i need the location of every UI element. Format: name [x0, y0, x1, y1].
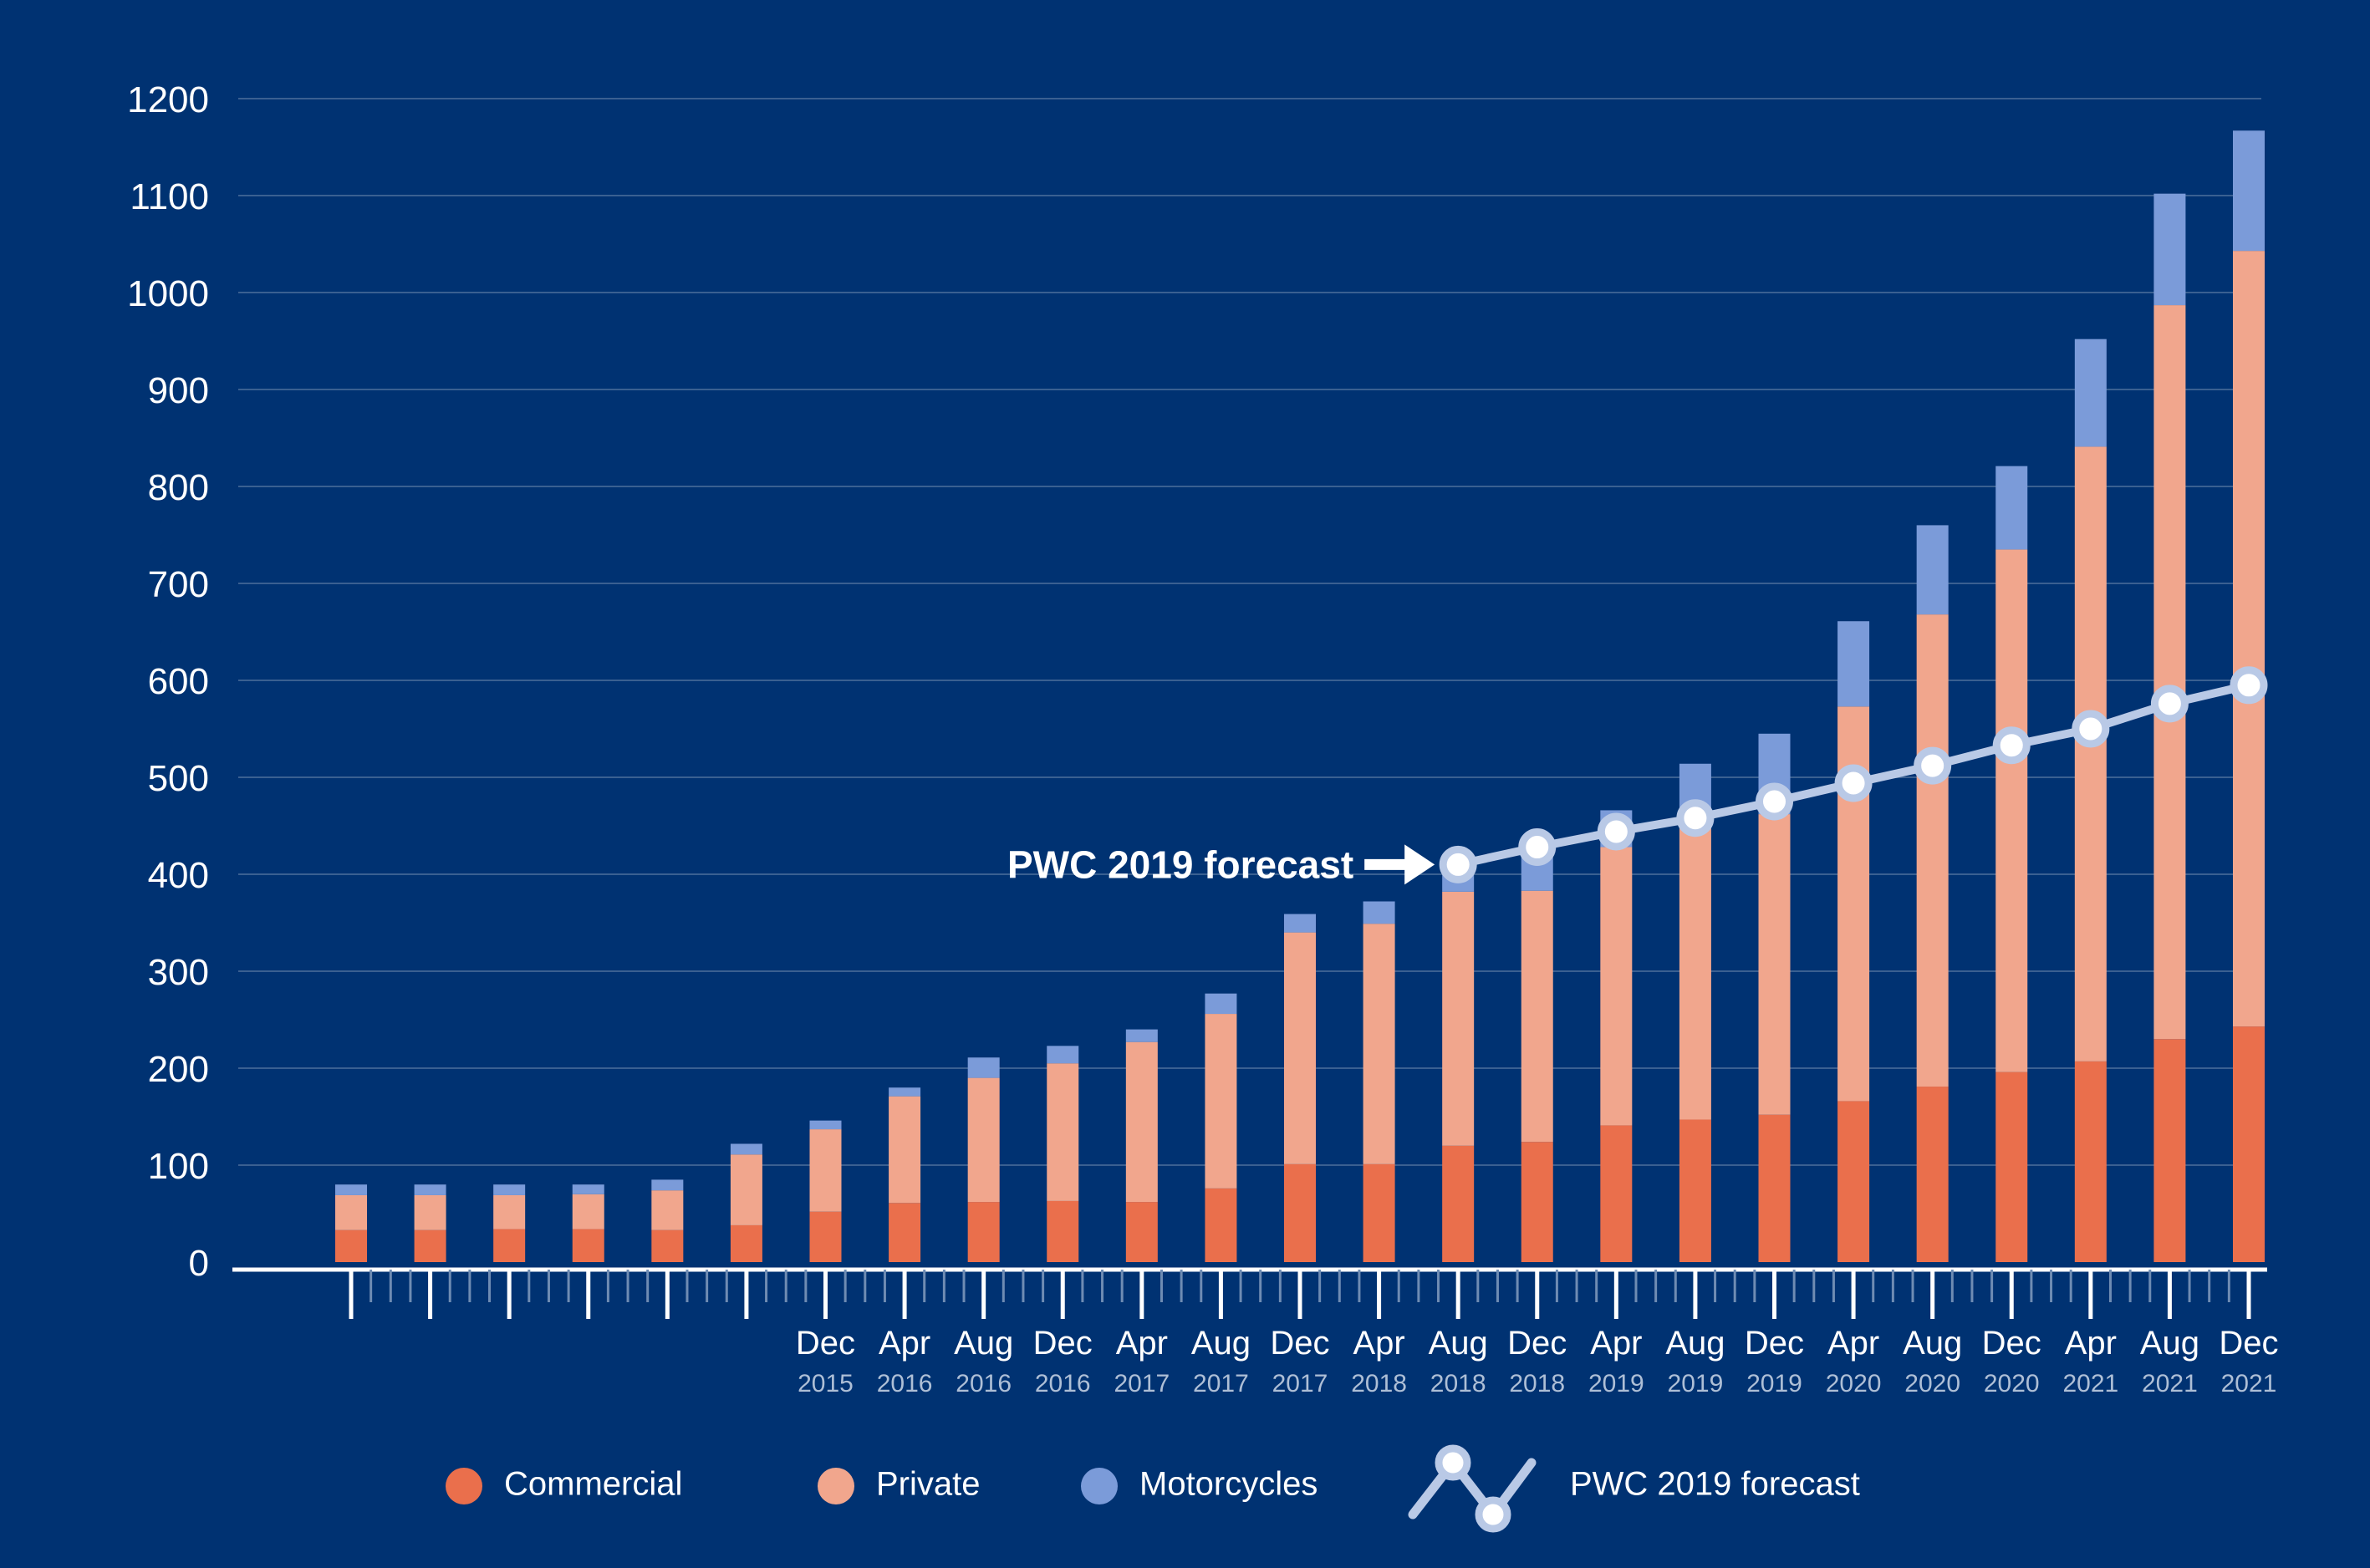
bar-stack — [651, 1179, 683, 1262]
x-axis-month-label: Apr — [1116, 1325, 1168, 1362]
forecast-point-marker — [1760, 787, 1790, 817]
forecast-point-marker — [2154, 689, 2184, 719]
x-axis-year-label: 2021 — [2221, 1370, 2277, 1397]
bar-stack — [810, 1121, 842, 1262]
x-axis-month-label: Aug — [2140, 1325, 2199, 1362]
bar-segment-commercial — [335, 1230, 367, 1262]
bar-segment-motorcycles — [2153, 194, 2185, 305]
x-axis-month-label: Dec — [1507, 1325, 1567, 1362]
bar-segment-private — [1995, 549, 2027, 1072]
x-axis-month-label: Aug — [1903, 1325, 1962, 1362]
bar-segment-motorcycles — [2075, 339, 2107, 447]
bar-segment-private — [1759, 814, 1791, 1115]
x-axis-year-label: 2018 — [1430, 1370, 1486, 1397]
bar-segment-commercial — [1917, 1087, 1949, 1262]
x-axis-month-label: Aug — [1191, 1325, 1251, 1362]
bar-segment-commercial — [731, 1225, 762, 1262]
bar-segment-commercial — [968, 1202, 1000, 1262]
bar-segment-commercial — [889, 1203, 920, 1262]
bar-segment-private — [1205, 1014, 1236, 1189]
x-axis-month-label: Dec — [2219, 1325, 2278, 1362]
x-axis-month-label: Dec — [1982, 1325, 2041, 1362]
bar-segment-private — [731, 1154, 762, 1225]
y-axis-tick-label: 1100 — [130, 176, 209, 217]
bar-segment-private — [1600, 848, 1632, 1126]
bar-stack — [1205, 994, 1236, 1262]
bar-stack — [1679, 764, 1711, 1262]
chart-container: 0100200300400500600700800900100011001200… — [0, 0, 2370, 1568]
x-axis-year-label: 2021 — [2062, 1370, 2118, 1397]
forecast-point-marker — [2076, 714, 2106, 744]
bar-segment-motorcycles — [968, 1057, 1000, 1077]
forecast-point-marker — [1601, 817, 1631, 847]
bar-segment-private — [2075, 446, 2107, 1061]
bar-segment-commercial — [1759, 1115, 1791, 1262]
bar-stack — [1521, 851, 1553, 1262]
y-axis-tick-label: 1000 — [127, 273, 209, 314]
bar-segment-motorcycles — [1047, 1046, 1078, 1063]
legend-label: Motorcycles — [1139, 1466, 1318, 1503]
bar-stack — [1600, 810, 1632, 1262]
bar-stack — [573, 1184, 604, 1262]
bar-segment-commercial — [651, 1230, 683, 1262]
bar-stack — [2153, 194, 2185, 1262]
bar-segment-commercial — [1679, 1119, 1711, 1262]
x-axis-year-label: 2015 — [798, 1370, 854, 1397]
bar-stack — [1837, 621, 1869, 1262]
y-axis-tick-label: 600 — [148, 661, 209, 702]
forecast-point-marker — [2234, 670, 2264, 700]
y-axis-tick-label: 500 — [148, 758, 209, 799]
bar-segment-commercial — [1363, 1164, 1395, 1262]
bar-segment-private — [889, 1097, 920, 1204]
x-axis-year-label: 2019 — [1588, 1370, 1644, 1397]
bar-stack — [968, 1057, 1000, 1262]
x-axis-year-label: 2020 — [1904, 1370, 1960, 1397]
bar-segment-motorcycles — [335, 1184, 367, 1195]
forecast-point-marker — [1996, 731, 2026, 761]
bar-segment-private — [1047, 1063, 1078, 1201]
bar-segment-motorcycles — [1205, 994, 1236, 1014]
x-axis-month-label: Apr — [1590, 1325, 1642, 1362]
x-axis-year-label: 2020 — [1984, 1370, 2040, 1397]
bar-segment-commercial — [810, 1212, 842, 1262]
bar-segment-motorcycles — [810, 1121, 842, 1129]
bar-stack — [731, 1143, 762, 1262]
x-axis-month-label: Dec — [1033, 1325, 1093, 1362]
legend-label: PWC 2019 forecast — [1570, 1466, 1860, 1503]
bar-segment-commercial — [1047, 1201, 1078, 1262]
bar-segment-private — [1521, 891, 1553, 1142]
legend-swatch-motorcycles — [1081, 1468, 1118, 1504]
x-axis-year-label: 2017 — [1193, 1370, 1249, 1397]
bar-stack — [1363, 901, 1395, 1262]
legend-swatch-private — [818, 1468, 854, 1504]
y-axis-tick-label: 400 — [148, 855, 209, 896]
bar-segment-commercial — [1837, 1101, 1869, 1262]
bar-stack — [2075, 339, 2107, 1262]
bar-segment-private — [810, 1129, 842, 1212]
x-axis-month-label: Aug — [954, 1325, 1013, 1362]
bar-stack — [1442, 863, 1474, 1262]
x-axis-year-label: 2016 — [1035, 1370, 1091, 1397]
x-axis-year-label: 2019 — [1668, 1370, 1724, 1397]
bar-segment-private — [2233, 251, 2265, 1026]
bar-stack — [493, 1184, 525, 1262]
x-axis-month-label: Apr — [1353, 1325, 1404, 1362]
bar-segment-motorcycles — [731, 1143, 762, 1154]
forecast-point-marker — [1522, 832, 1552, 863]
x-axis-year-label: 2016 — [956, 1370, 1012, 1397]
x-axis-year-label: 2019 — [1746, 1370, 1802, 1397]
bar-segment-motorcycles — [2233, 130, 2265, 251]
forecast-point-marker — [1680, 803, 1710, 833]
x-axis-year-label: 2017 — [1272, 1370, 1328, 1397]
bar-segment-commercial — [1521, 1142, 1553, 1262]
x-axis-month-label: Apr — [879, 1325, 930, 1362]
x-axis-month-label: Dec — [796, 1325, 855, 1362]
x-axis-year-label: 2020 — [1826, 1370, 1882, 1397]
y-axis-tick-label: 900 — [148, 370, 209, 411]
legend-forecast-marker — [1479, 1500, 1507, 1529]
bar-segment-motorcycles — [1837, 621, 1869, 706]
forecast-point-marker — [1918, 751, 1948, 781]
bar-stack — [1995, 466, 2027, 1262]
bar-segment-private — [415, 1195, 446, 1230]
x-axis-month-label: Dec — [1745, 1325, 1804, 1362]
y-axis-tick-label: 1200 — [127, 79, 209, 120]
bar-segment-commercial — [2153, 1039, 2185, 1262]
legend-forecast-marker — [1439, 1448, 1467, 1477]
x-axis-year-label: 2018 — [1509, 1370, 1565, 1397]
y-axis-tick-label: 800 — [148, 467, 209, 508]
bar-stack — [889, 1087, 920, 1262]
bar-segment-motorcycles — [415, 1184, 446, 1195]
bar-segment-commercial — [1205, 1189, 1236, 1262]
x-axis-year-label: 2018 — [1351, 1370, 1407, 1397]
y-axis-tick-label: 200 — [148, 1049, 209, 1090]
bar-segment-motorcycles — [1995, 466, 2027, 550]
bar-segment-motorcycles — [651, 1179, 683, 1190]
bar-segment-private — [1442, 892, 1474, 1146]
bar-stack — [335, 1184, 367, 1262]
bar-segment-private — [651, 1190, 683, 1230]
bar-stack — [1284, 914, 1316, 1262]
bar-segment-commercial — [573, 1229, 604, 1262]
bar-segment-private — [493, 1195, 525, 1229]
bar-segment-private — [1284, 933, 1316, 1164]
x-axis-year-label: 2021 — [2142, 1370, 2198, 1397]
bar-segment-private — [1363, 924, 1395, 1164]
bar-segment-private — [335, 1195, 367, 1230]
forecast-point-marker — [1838, 768, 1868, 798]
bar-stack — [1047, 1046, 1078, 1262]
bar-segment-commercial — [415, 1230, 446, 1262]
bar-segment-private — [573, 1194, 604, 1229]
x-axis-month-label: Apr — [2065, 1325, 2117, 1362]
bar-segment-motorcycles — [1917, 525, 1949, 614]
bar-segment-commercial — [2233, 1026, 2265, 1262]
bar-stack — [1126, 1030, 1158, 1262]
bar-segment-private — [2153, 305, 2185, 1039]
bar-stack — [415, 1184, 446, 1262]
bar-segment-commercial — [1126, 1202, 1158, 1262]
bar-segment-motorcycles — [1126, 1030, 1158, 1042]
y-axis-tick-label: 100 — [148, 1146, 209, 1187]
bar-segment-motorcycles — [573, 1184, 604, 1194]
bar-segment-commercial — [1995, 1072, 2027, 1262]
x-axis-year-label: 2017 — [1114, 1370, 1170, 1397]
y-axis-tick-label: 300 — [148, 952, 209, 993]
bar-segment-private — [1917, 614, 1949, 1087]
bar-segment-motorcycles — [493, 1184, 525, 1195]
x-axis-month-label: Aug — [1429, 1325, 1488, 1362]
x-axis-month-label: Apr — [1827, 1325, 1879, 1362]
x-axis-year-label: 2016 — [877, 1370, 933, 1397]
legend-label: Commercial — [504, 1466, 682, 1503]
forecast-point-marker — [1443, 849, 1473, 879]
bar-segment-commercial — [1600, 1125, 1632, 1262]
x-axis-month-label: Aug — [1665, 1325, 1725, 1362]
y-axis-tick-label: 0 — [189, 1243, 209, 1284]
bar-segment-private — [1679, 820, 1711, 1119]
bar-segment-commercial — [1442, 1146, 1474, 1262]
bar-stack — [1917, 525, 1949, 1262]
bar-segment-commercial — [1284, 1164, 1316, 1262]
stacked-bar-chart: 0100200300400500600700800900100011001200… — [0, 0, 2370, 1568]
annotation-text: PWC 2019 forecast — [1007, 843, 1353, 886]
legend-swatch-commercial — [446, 1468, 482, 1504]
bar-segment-motorcycles — [889, 1087, 920, 1096]
bar-segment-private — [968, 1078, 1000, 1202]
bar-segment-commercial — [2075, 1061, 2107, 1262]
legend-label: Private — [876, 1466, 981, 1503]
bar-segment-commercial — [493, 1229, 525, 1262]
bar-segment-motorcycles — [1363, 901, 1395, 924]
x-axis-month-label: Dec — [1270, 1325, 1329, 1362]
y-axis-tick-label: 700 — [148, 564, 209, 605]
bar-segment-motorcycles — [1284, 914, 1316, 933]
bar-segment-private — [1126, 1042, 1158, 1202]
